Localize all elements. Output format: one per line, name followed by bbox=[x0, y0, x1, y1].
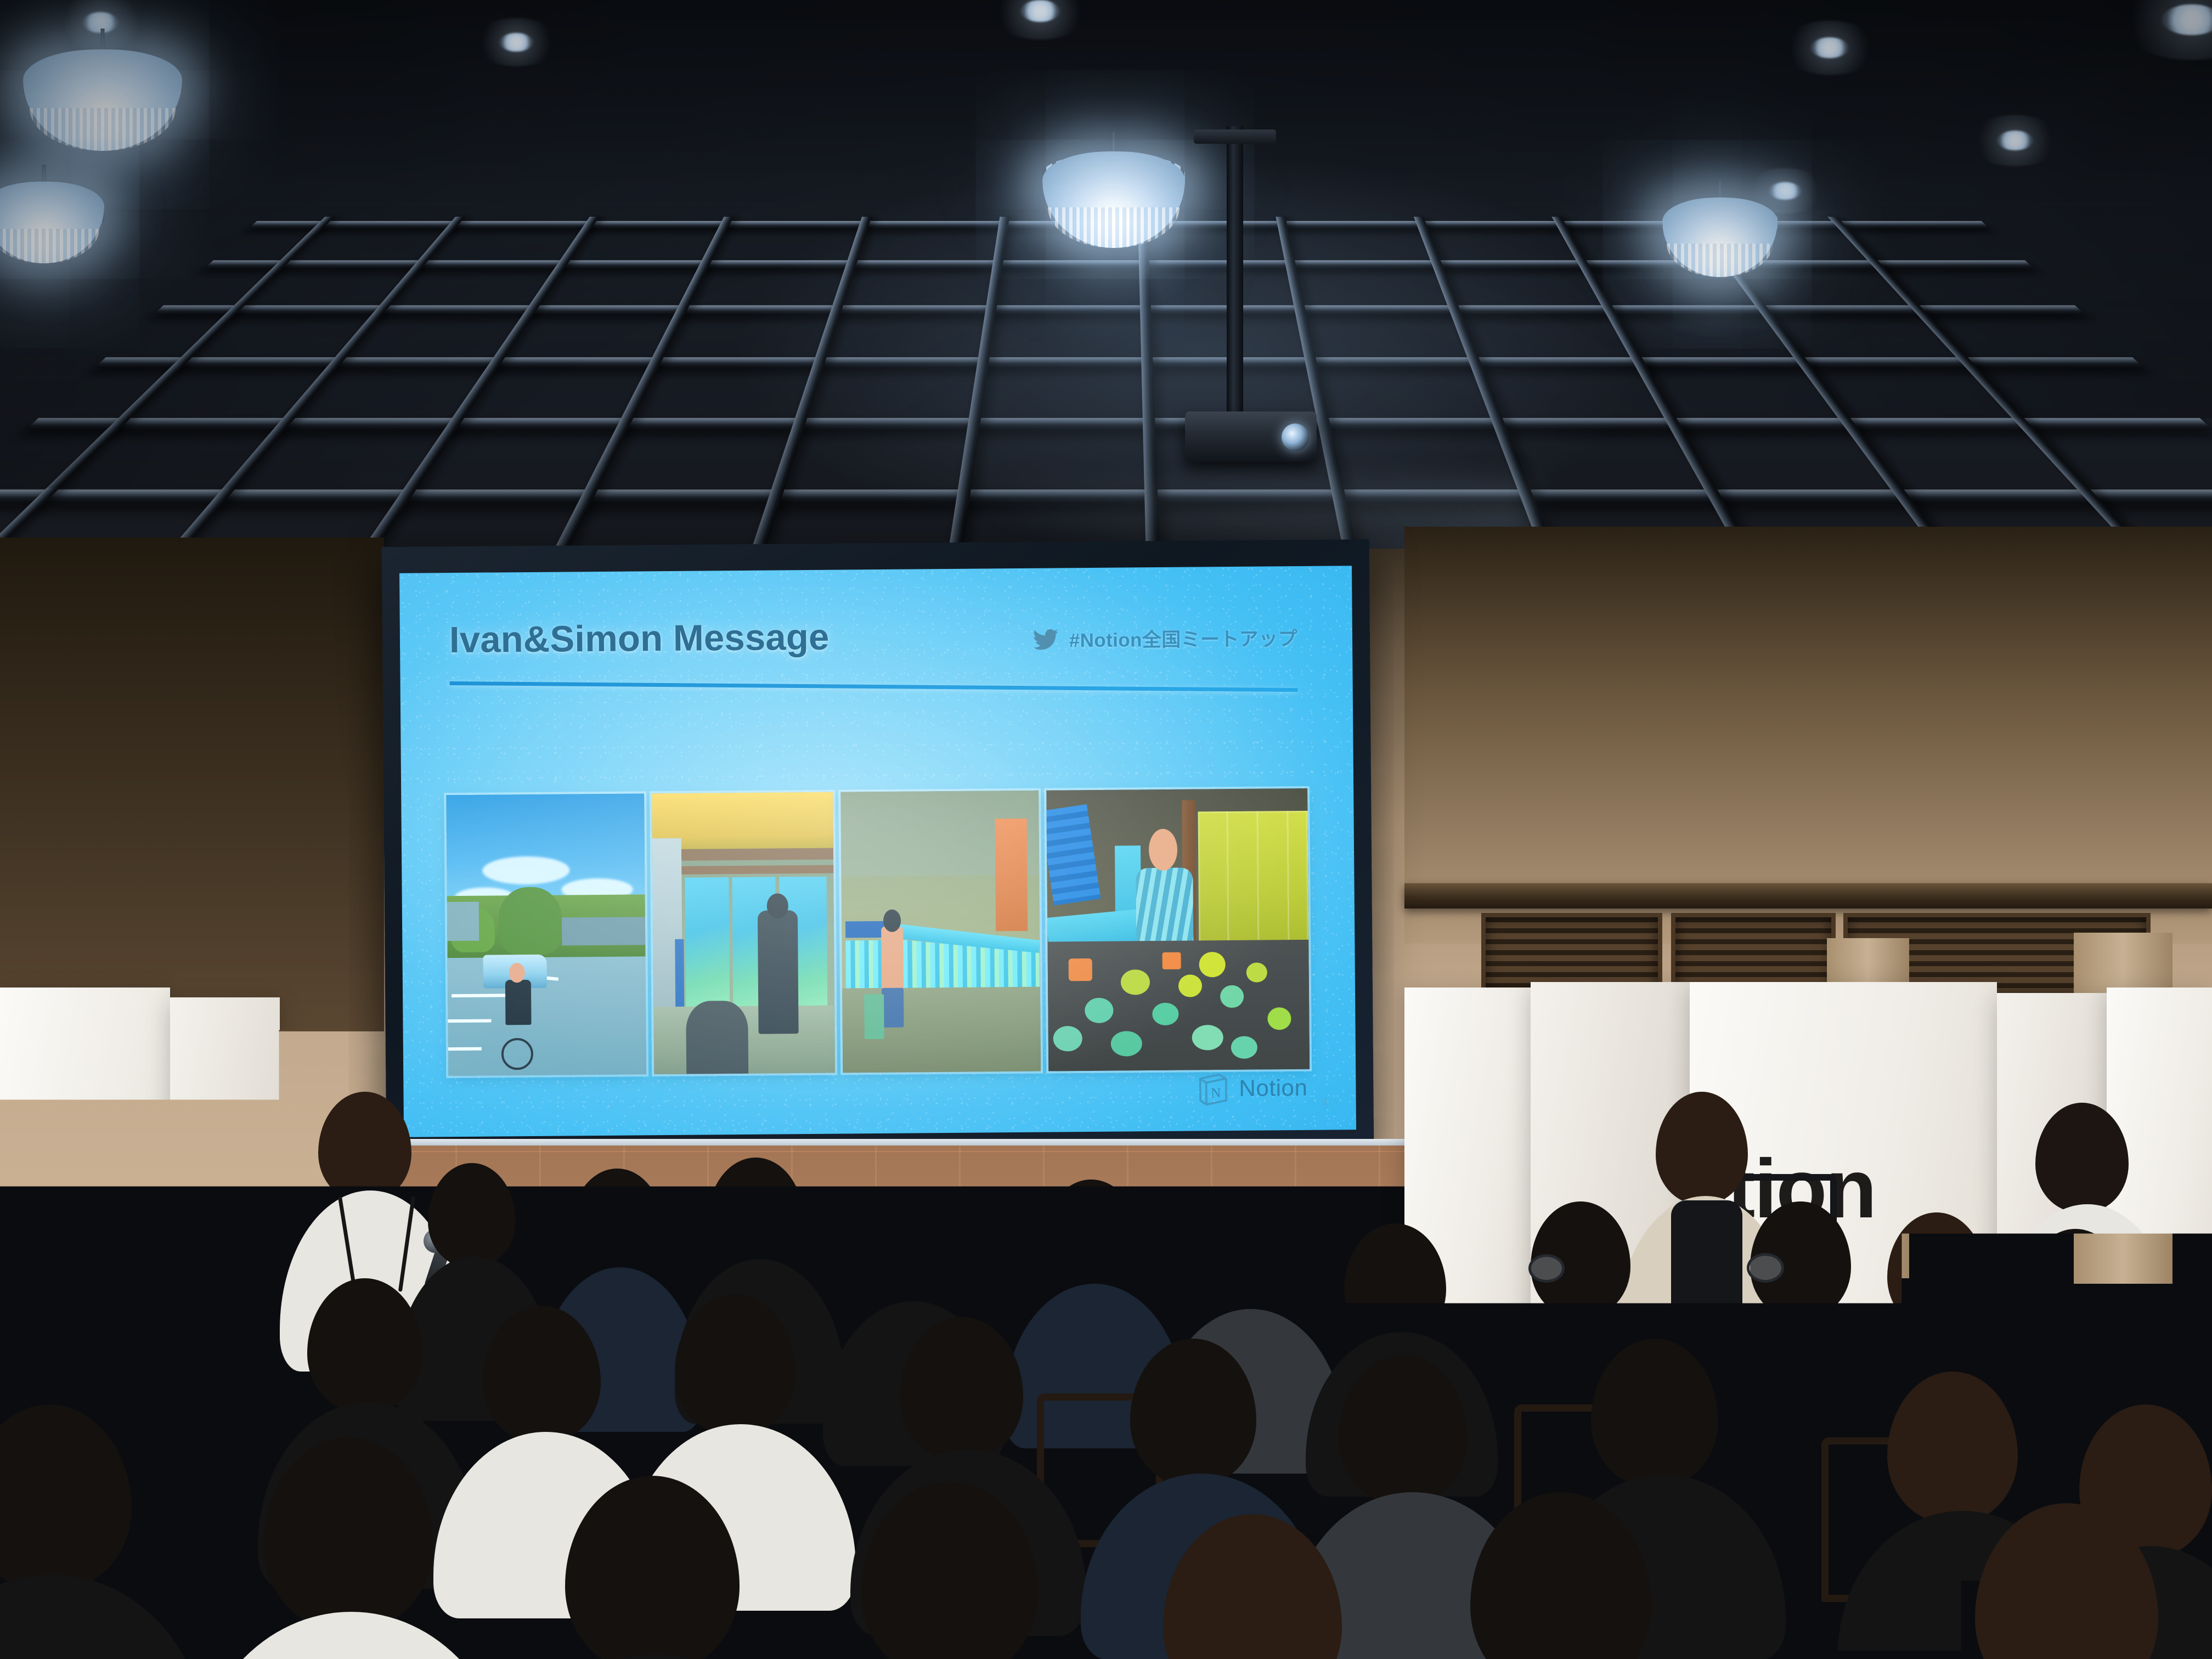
hashtag-group: #Notion全国ミートアップ bbox=[1031, 623, 1298, 653]
recessed-downlight bbox=[2162, 4, 2212, 35]
recessed-downlight bbox=[1997, 131, 2033, 150]
lamp-globe bbox=[1042, 151, 1185, 248]
ceiling-beam-grid bbox=[0, 217, 2212, 565]
projector-mount-pole bbox=[1227, 126, 1243, 411]
lamp-globe bbox=[0, 182, 104, 264]
ceiling-projector bbox=[1185, 411, 1317, 462]
panelist-inner-top bbox=[1671, 1200, 1742, 1338]
audience-shoulders bbox=[0, 1575, 208, 1659]
recessed-downlight bbox=[499, 33, 533, 52]
audience-shoulders bbox=[192, 1612, 510, 1659]
pendant-lamp bbox=[23, 29, 182, 144]
pendant-lamp bbox=[1662, 181, 1778, 272]
audience-shoulders bbox=[494, 1655, 817, 1659]
eyeglasses-icon bbox=[2015, 1275, 2050, 1304]
lamp-globe bbox=[1662, 198, 1778, 277]
lamp-globe bbox=[23, 49, 182, 151]
eyeglasses-icon bbox=[1528, 1254, 1565, 1283]
pendant-lamp bbox=[0, 165, 104, 258]
recessed-downlight bbox=[1810, 37, 1849, 58]
eyeglasses-icon bbox=[1747, 1253, 1784, 1283]
presentation-room-scene: Ivan&Simon Message #Notion全国ミートアップ bbox=[0, 0, 2212, 1659]
slide-divider bbox=[450, 681, 1298, 692]
slide-header: Ivan&Simon Message #Notion全国ミートアップ bbox=[445, 609, 1302, 681]
left-wall-dark-wood bbox=[0, 538, 384, 1031]
pendant-lamp bbox=[1042, 132, 1185, 241]
audience-head bbox=[0, 1404, 132, 1591]
projector-mount-bracket bbox=[1194, 129, 1276, 144]
projector-lens-icon bbox=[1282, 424, 1309, 451]
presentation-slide[interactable]: Ivan&Simon Message #Notion全国ミートアップ bbox=[399, 566, 1356, 1137]
projection-screen[interactable]: Ivan&Simon Message #Notion全国ミートアップ bbox=[382, 539, 1374, 1156]
coffered-ceiling bbox=[0, 0, 2212, 565]
slide-title: Ivan&Simon Message bbox=[449, 616, 830, 661]
slide-hashtag: #Notion全国ミートアップ bbox=[1069, 623, 1298, 653]
wall-beam-trim bbox=[1404, 883, 2212, 909]
right-wall bbox=[1404, 527, 2212, 944]
recessed-downlight bbox=[1020, 0, 1060, 22]
twitter-bird-icon bbox=[1031, 627, 1060, 652]
